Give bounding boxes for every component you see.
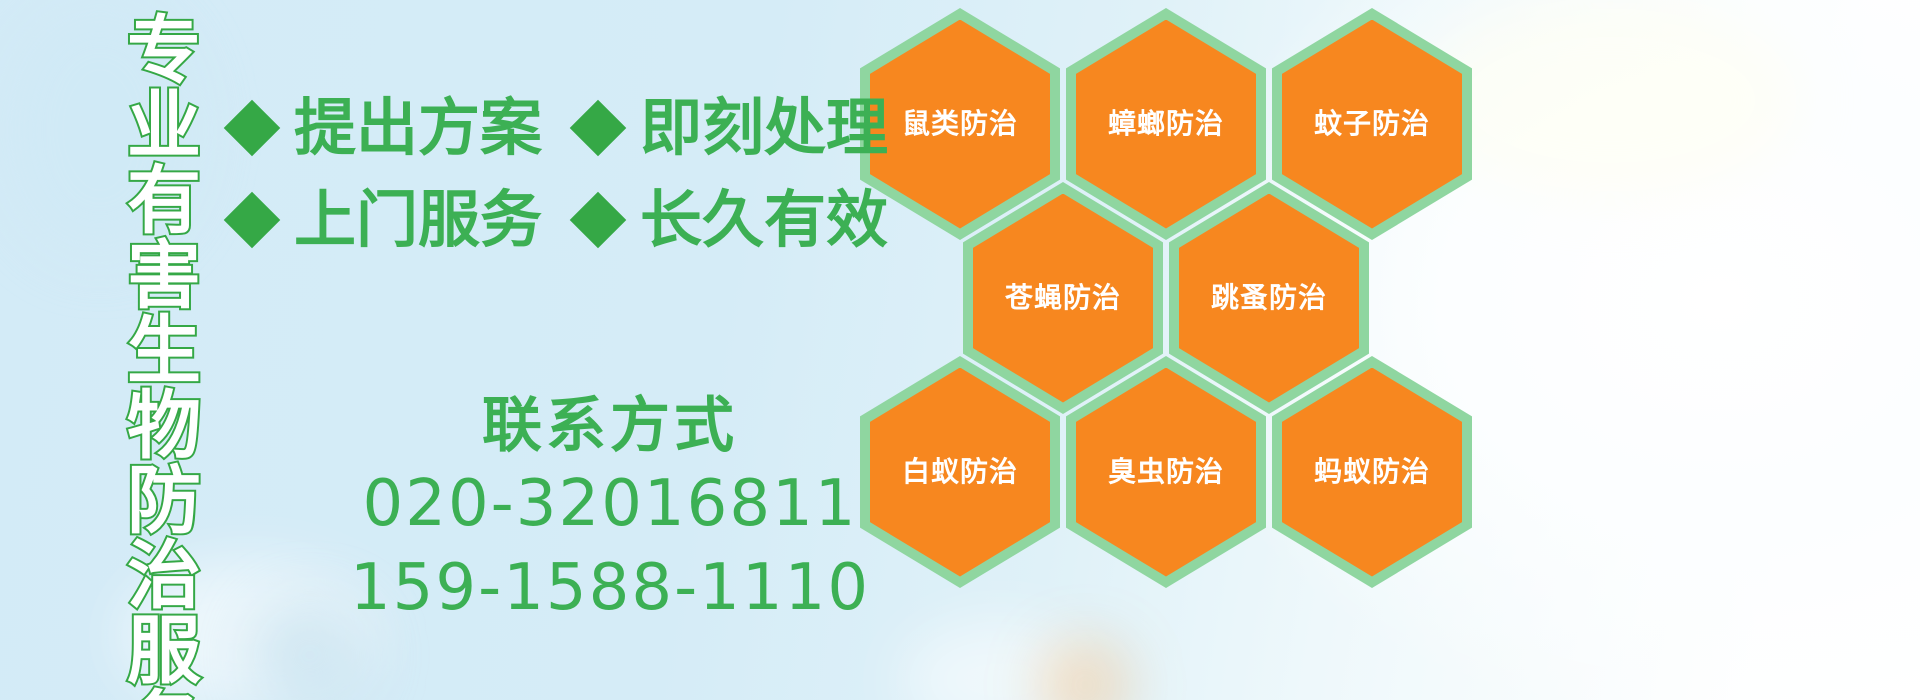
service-hex-fill: 蚂蚁防治 xyxy=(1282,368,1462,577)
feature-row: 上门服务 长久有效 xyxy=(232,174,888,266)
vertical-headline-char: 防 xyxy=(127,464,201,538)
service-hex-label: 蚊子防治 xyxy=(1314,109,1430,139)
diamond-icon xyxy=(224,100,281,157)
service-hex-fill: 蚊子防治 xyxy=(1282,20,1462,229)
vertical-headline-char: 生 xyxy=(127,314,201,388)
contact-label: 联系方式 xyxy=(300,390,920,462)
service-hex-fill: 臭虫防治 xyxy=(1076,368,1256,577)
feature-item: 上门服务 xyxy=(232,189,542,251)
vertical-headline-char: 专 xyxy=(127,14,201,88)
phone-number-mobile[interactable]: 159-1588-1110 xyxy=(300,546,920,630)
feature-item: 即刻处理 xyxy=(578,97,888,159)
feature-label: 上门服务 xyxy=(294,189,542,251)
diamond-icon xyxy=(224,192,281,249)
feature-label: 即刻处理 xyxy=(640,97,888,159)
vertical-headline-char: 业 xyxy=(127,89,201,163)
diamond-icon xyxy=(570,192,627,249)
service-hex-label: 跳蚤防治 xyxy=(1211,283,1327,313)
vertical-headline-char: 物 xyxy=(127,389,201,463)
service-hex-label: 鼠类防治 xyxy=(902,109,1018,139)
service-hex-label: 臭虫防治 xyxy=(1108,457,1224,487)
service-hex-grid: 鼠类防治蟑螂防治蚊子防治苍蝇防治跳蚤防治白蚁防治臭虫防治蚂蚁防治 xyxy=(860,0,1560,700)
service-hex-fill: 苍蝇防治 xyxy=(973,194,1153,403)
promo-banner: 专 业 有 害 生 物 防 治 服 务 提出方案 即刻处理 上门服务 xyxy=(0,0,1920,700)
feature-row: 提出方案 即刻处理 xyxy=(232,82,888,174)
service-hex-fill: 跳蚤防治 xyxy=(1179,194,1359,403)
diamond-icon xyxy=(570,100,627,157)
service-hex-fill: 蟑螂防治 xyxy=(1076,20,1256,229)
vertical-headline-char: 害 xyxy=(127,239,201,313)
service-hex-label: 蟑螂防治 xyxy=(1108,109,1224,139)
feature-label: 提出方案 xyxy=(294,97,542,159)
vertical-headline: 专 业 有 害 生 物 防 治 服 务 xyxy=(112,14,216,686)
vertical-headline-char: 有 xyxy=(127,164,201,238)
feature-item: 提出方案 xyxy=(232,97,542,159)
feature-list: 提出方案 即刻处理 上门服务 长久有效 xyxy=(232,82,888,266)
contact-block: 联系方式 020-32016811 159-1588-1110 xyxy=(300,390,920,630)
feature-item: 长久有效 xyxy=(578,189,888,251)
phone-number-landline[interactable]: 020-32016811 xyxy=(300,462,920,546)
vertical-headline-char: 治 xyxy=(127,539,201,613)
vertical-headline-char: 服 xyxy=(127,614,201,688)
vertical-headline-char: 务 xyxy=(127,689,201,700)
service-hex-label: 蚂蚁防治 xyxy=(1314,457,1430,487)
service-hex-label: 苍蝇防治 xyxy=(1005,283,1121,313)
service-hex-fill: 鼠类防治 xyxy=(870,20,1050,229)
feature-label: 长久有效 xyxy=(640,189,888,251)
